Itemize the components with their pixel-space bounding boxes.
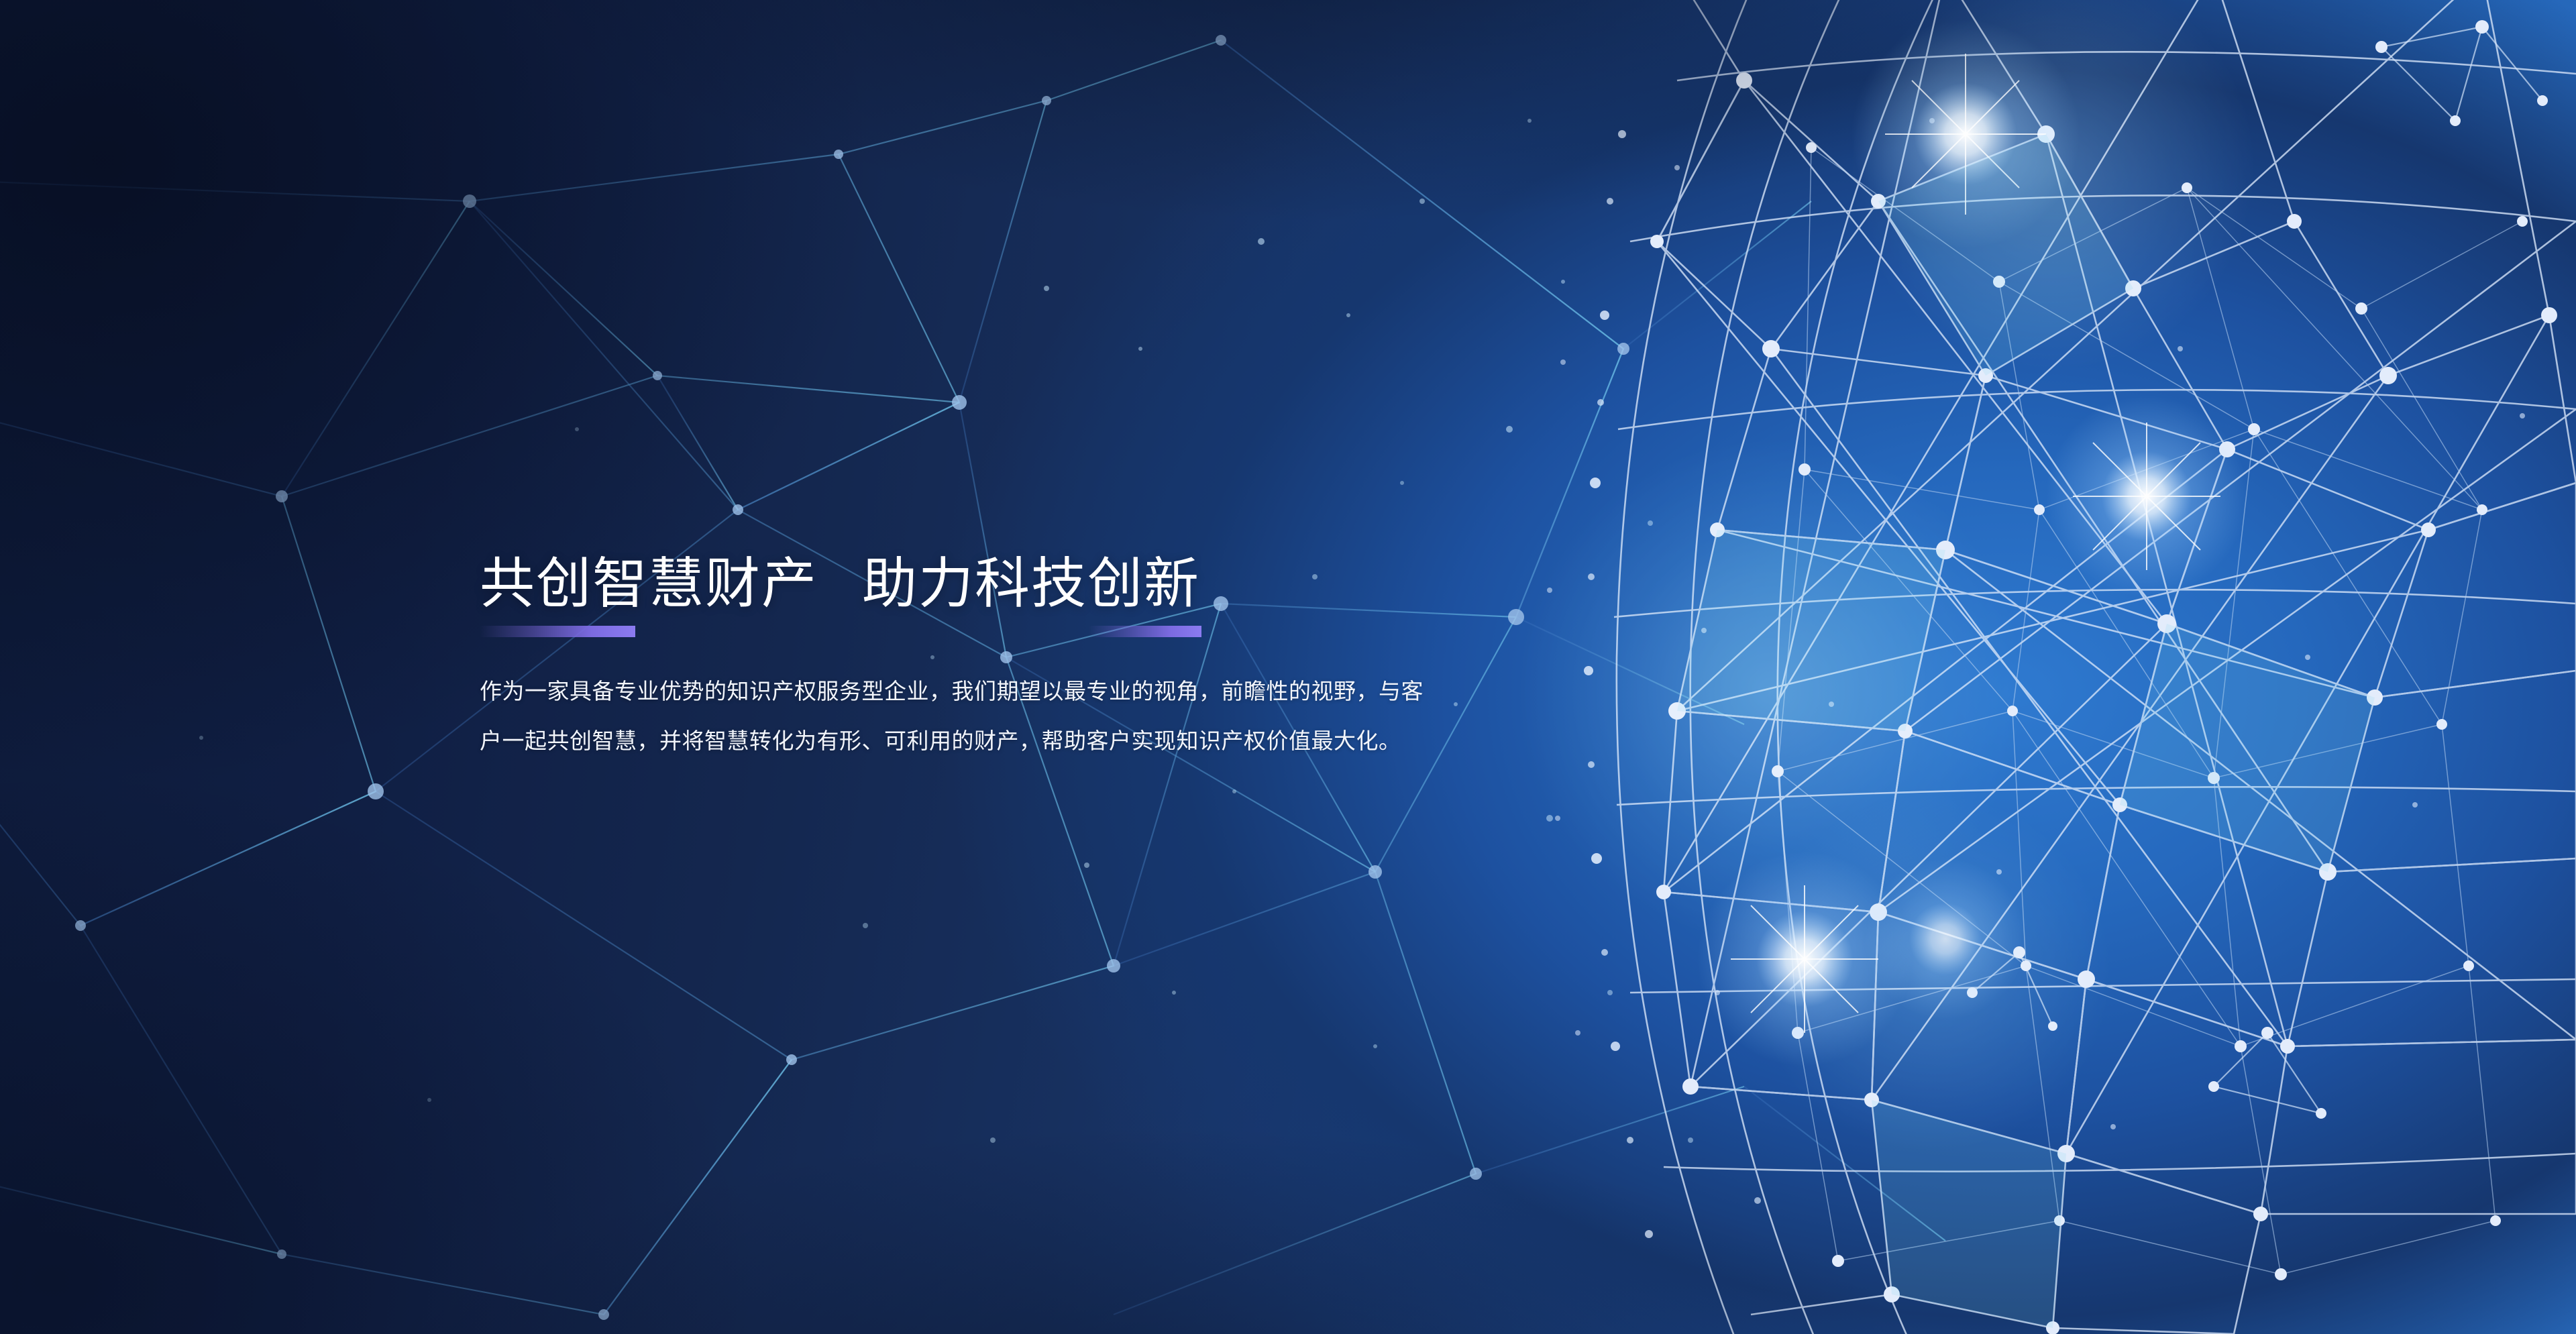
underline-accent-2 [1089, 626, 1201, 637]
headline-segment-2-wrap: 助力科技创新 [862, 557, 1200, 612]
underline-accent-1 [480, 626, 635, 637]
hero-banner: 共创智慧财产 助力科技创新 作为一家具备专业优势的知识产权服务型企业，我们期望以… [0, 0, 2576, 1334]
headline-segment-2: 助力科技创新 [862, 553, 1200, 614]
headline-segment-1-wrap: 共创智慧财产 [480, 557, 818, 612]
hero-paragraph: 作为一家具备专业优势的知识产权服务型企业，我们期望以最专业的视角，前瞻性的视野，… [480, 667, 1429, 766]
hero-copy-block: 共创智慧财产 助力科技创新 作为一家具备专业优势的知识产权服务型企业，我们期望以… [480, 557, 1432, 788]
headline-segment-1: 共创智慧财产 [480, 553, 818, 614]
page-title: 共创智慧财产 助力科技创新 [480, 557, 1432, 612]
